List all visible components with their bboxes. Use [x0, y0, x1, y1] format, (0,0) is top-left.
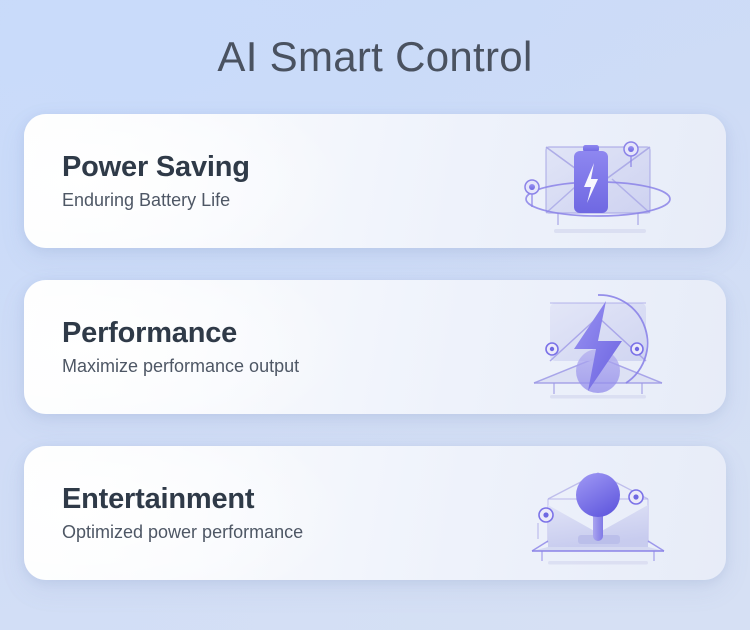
feature-card-power-saving[interactable]: Power Saving Enduring Battery Life	[24, 114, 726, 248]
card-text-block: Power Saving Enduring Battery Life	[62, 114, 250, 248]
card-title: Entertainment	[62, 483, 303, 516]
card-subtitle: Optimized power performance	[62, 522, 303, 544]
card-title: Performance	[62, 317, 299, 350]
feature-card-performance[interactable]: Performance Maximize performance output	[24, 280, 726, 414]
ai-smart-control-screen: AI Smart Control Power Saving Enduring B…	[0, 0, 750, 630]
lightning-bolt-icon	[498, 287, 698, 407]
battery-bolt-icon	[498, 121, 698, 241]
feature-card-list: Power Saving Enduring Battery Life	[24, 114, 726, 612]
card-subtitle: Maximize performance output	[62, 356, 299, 378]
feature-card-entertainment[interactable]: Entertainment Optimized power performanc…	[24, 446, 726, 580]
page-title: AI Smart Control	[0, 34, 750, 80]
card-text-block: Performance Maximize performance output	[62, 280, 299, 414]
card-subtitle: Enduring Battery Life	[62, 190, 250, 212]
joystick-icon	[498, 453, 698, 573]
card-text-block: Entertainment Optimized power performanc…	[62, 446, 303, 580]
card-title: Power Saving	[62, 151, 250, 184]
